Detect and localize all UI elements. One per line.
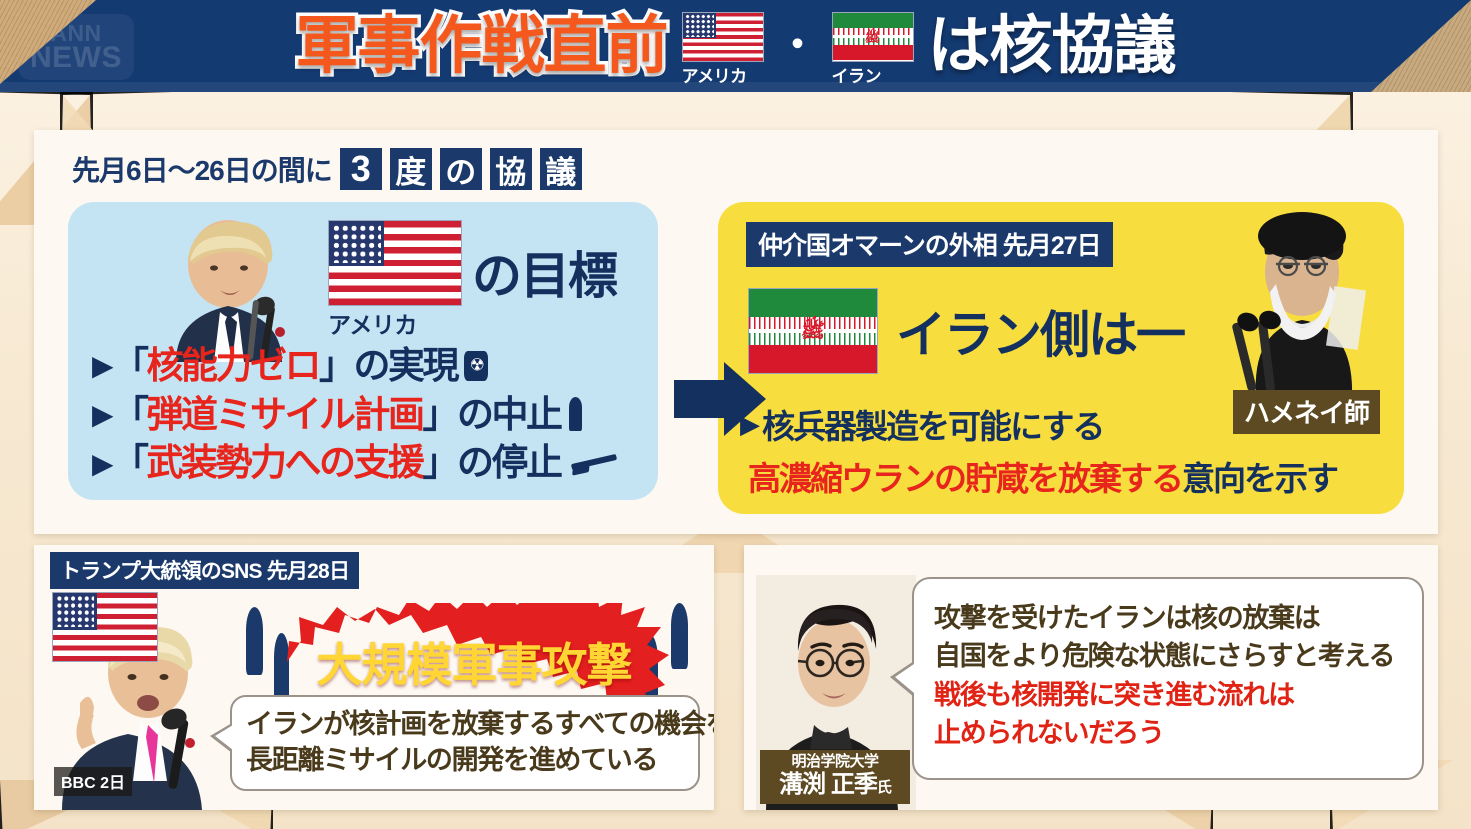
headline-separator: ・ [778, 12, 818, 70]
boxed-char-4: 議 [540, 148, 582, 190]
iran-statement-line-1: ▶ 核兵器製造を可能にする [740, 400, 1337, 448]
us-flag-icon [52, 592, 158, 662]
headline-part-1: 軍事作戦直前 [296, 15, 668, 78]
iran-statement: ▶ 核兵器製造を可能にする 高濃縮ウランの貯蔵を放棄する意向を示す [740, 400, 1337, 500]
trump-sns-card: トランプ大統領のSNS 先月28日 大規模軍事攻撃 イランが核計画を放棄するすべ… [34, 545, 714, 810]
us-flag-icon [328, 220, 462, 306]
boxed-char-0: 3 [340, 148, 382, 190]
us-goal-flag-caption: アメリカ [328, 312, 417, 338]
attack-burst-text: 大規模軍事攻撃 [317, 629, 632, 695]
iran-response-panel: 仲介国オマーンの外相 先月27日 ﷺ イラン側は一 [718, 202, 1404, 514]
us-flag-icon [682, 12, 764, 62]
iran-statement-line-2: 高濃縮ウランの貯蔵を放棄する意向を示す [740, 452, 1337, 500]
bullet-quote-open: 「 [112, 393, 147, 437]
expert-name: 溝渕 正季 [779, 771, 877, 798]
us-goal-label: の目標 [472, 236, 616, 308]
us-goal-flag-group: アメリカ [328, 220, 462, 340]
news-graphic-root: ANN NEWS 軍事作戦直前 アメリカ ・ ﷺ イラン [0, 0, 1471, 829]
iran-side-label: イラン側は一 [896, 295, 1184, 367]
trump-quote-line-1: イランが核計画を放棄するすべての機会を拒み [246, 707, 698, 743]
three-talks-line: 先月6日〜26日の間に 3 度 の 協 議 [72, 148, 582, 190]
bullet-tail: の中止 [457, 393, 561, 437]
headline-flag-us-group: アメリカ [682, 12, 764, 87]
us-goals-panel: アメリカ の目標 ▶ 「 核能力ゼロ 」 の実現 ▶ 「 弾道ミサイル計画 [68, 202, 658, 500]
bullet-quote-close: 」 [319, 344, 354, 388]
bullet-highlight: 武装勢力への支援 [147, 441, 423, 485]
bullet-quote-open: 「 [112, 441, 147, 485]
expert-comment-card: 明治学院大学 溝渕 正季氏 攻撃を受けたイランは核の放棄は 自国をより危険な状態… [744, 545, 1438, 810]
radiation-barrel-icon [464, 351, 488, 381]
bullet-marker-icon: ▶ [92, 398, 111, 431]
bullet-marker-icon: ▶ [92, 447, 111, 480]
missile-icon [246, 607, 263, 675]
expert-comment-line-4: 止められないだろう [934, 714, 1422, 752]
bullet-item-3: ▶ 「 武装勢力への支援 」 の停止 [92, 441, 619, 485]
trump-sns-tag: トランプ大統領のSNS 先月28日 [50, 552, 359, 589]
boxed-char-3: 協 [490, 148, 532, 190]
iran-statement-highlight: 高濃縮ウランの貯蔵を放棄する [748, 460, 1182, 497]
three-talks-lead: 先月6日〜26日の間に [72, 149, 332, 189]
iran-heading-row: ﷺ イラン側は一 [748, 288, 1184, 374]
bullet-quote-close: 」 [423, 441, 458, 485]
bbc-credit-tag: BBC 2日 [54, 767, 132, 796]
iran-flag-icon: ﷺ [832, 12, 914, 62]
expert-comment-bubble: 攻撃を受けたイランは核の放棄は 自国をより危険な状態にさらすと考える 戦後も核開… [912, 577, 1424, 780]
bullet-tail: の停止 [457, 441, 561, 485]
headline: 軍事作戦直前 アメリカ ・ ﷺ イラン は核協議 [0, 0, 1471, 92]
expert-name-suffix: 氏 [877, 779, 891, 796]
iran-statement-tail: 意向を示す [1182, 460, 1337, 497]
bullet-highlight: 核能力ゼロ [147, 344, 320, 388]
boxed-char-2: の [440, 148, 482, 190]
bullet-tail: の実現 [354, 344, 458, 388]
rifle-icon [567, 451, 619, 475]
us-flag-caption: アメリカ [682, 67, 747, 86]
expert-name-tag: 明治学院大学 溝渕 正季氏 [760, 750, 910, 804]
boxed-char-1: 度 [390, 148, 432, 190]
bullet-highlight: 弾道ミサイル計画 [147, 393, 423, 437]
bullet-quote-open: 「 [112, 344, 147, 388]
expert-comment-line-2: 自国をより危険な状態にさらすと考える [934, 637, 1422, 675]
us-goal-heading: アメリカ の目標 [328, 220, 616, 340]
trump-portrait-top [124, 214, 324, 362]
us-goal-bullets: ▶ 「 核能力ゼロ 」 の実現 ▶ 「 弾道ミサイル計画 」 の中止 ▶ [92, 344, 619, 485]
missile-icon [671, 603, 688, 669]
bullet-marker-icon: ▶ [92, 349, 111, 382]
missile-icon [569, 397, 582, 431]
expert-affiliation: 明治学院大学 [764, 753, 906, 771]
bullet-item-1: ▶ 「 核能力ゼロ 」 の実現 [92, 344, 619, 388]
expert-comment-line-1: 攻撃を受けたイランは核の放棄は [934, 599, 1422, 637]
iran-flag-caption: イラン [832, 67, 882, 86]
trump-quote-line-2: 長距離ミサイルの開発を進めている [246, 743, 698, 779]
headline-part-2: は核協議 [928, 15, 1176, 78]
top-card: 先月6日〜26日の間に 3 度 の 協 議 [34, 130, 1438, 534]
headline-flag-iran-group: ﷺ イラン [832, 12, 914, 87]
expert-name-line: 溝渕 正季氏 [764, 771, 906, 799]
iran-statement-line-1-text: 核兵器製造を可能にする [762, 400, 1103, 448]
oman-source-tag: 仲介国オマーンの外相 先月27日 [746, 222, 1113, 267]
expert-comment-line-3: 戦後も核開発に突き進む流れは [934, 676, 1422, 714]
bullet-item-2: ▶ 「 弾道ミサイル計画 」 の中止 [92, 393, 619, 437]
iran-flag-icon: ﷺ [748, 288, 878, 374]
trump-quote-bubble: イランが核計画を放棄するすべての機会を拒み 長距離ミサイルの開発を進めている [230, 695, 700, 791]
khamenei-portrait [1218, 210, 1386, 396]
bullet-quote-close: 」 [423, 393, 458, 437]
